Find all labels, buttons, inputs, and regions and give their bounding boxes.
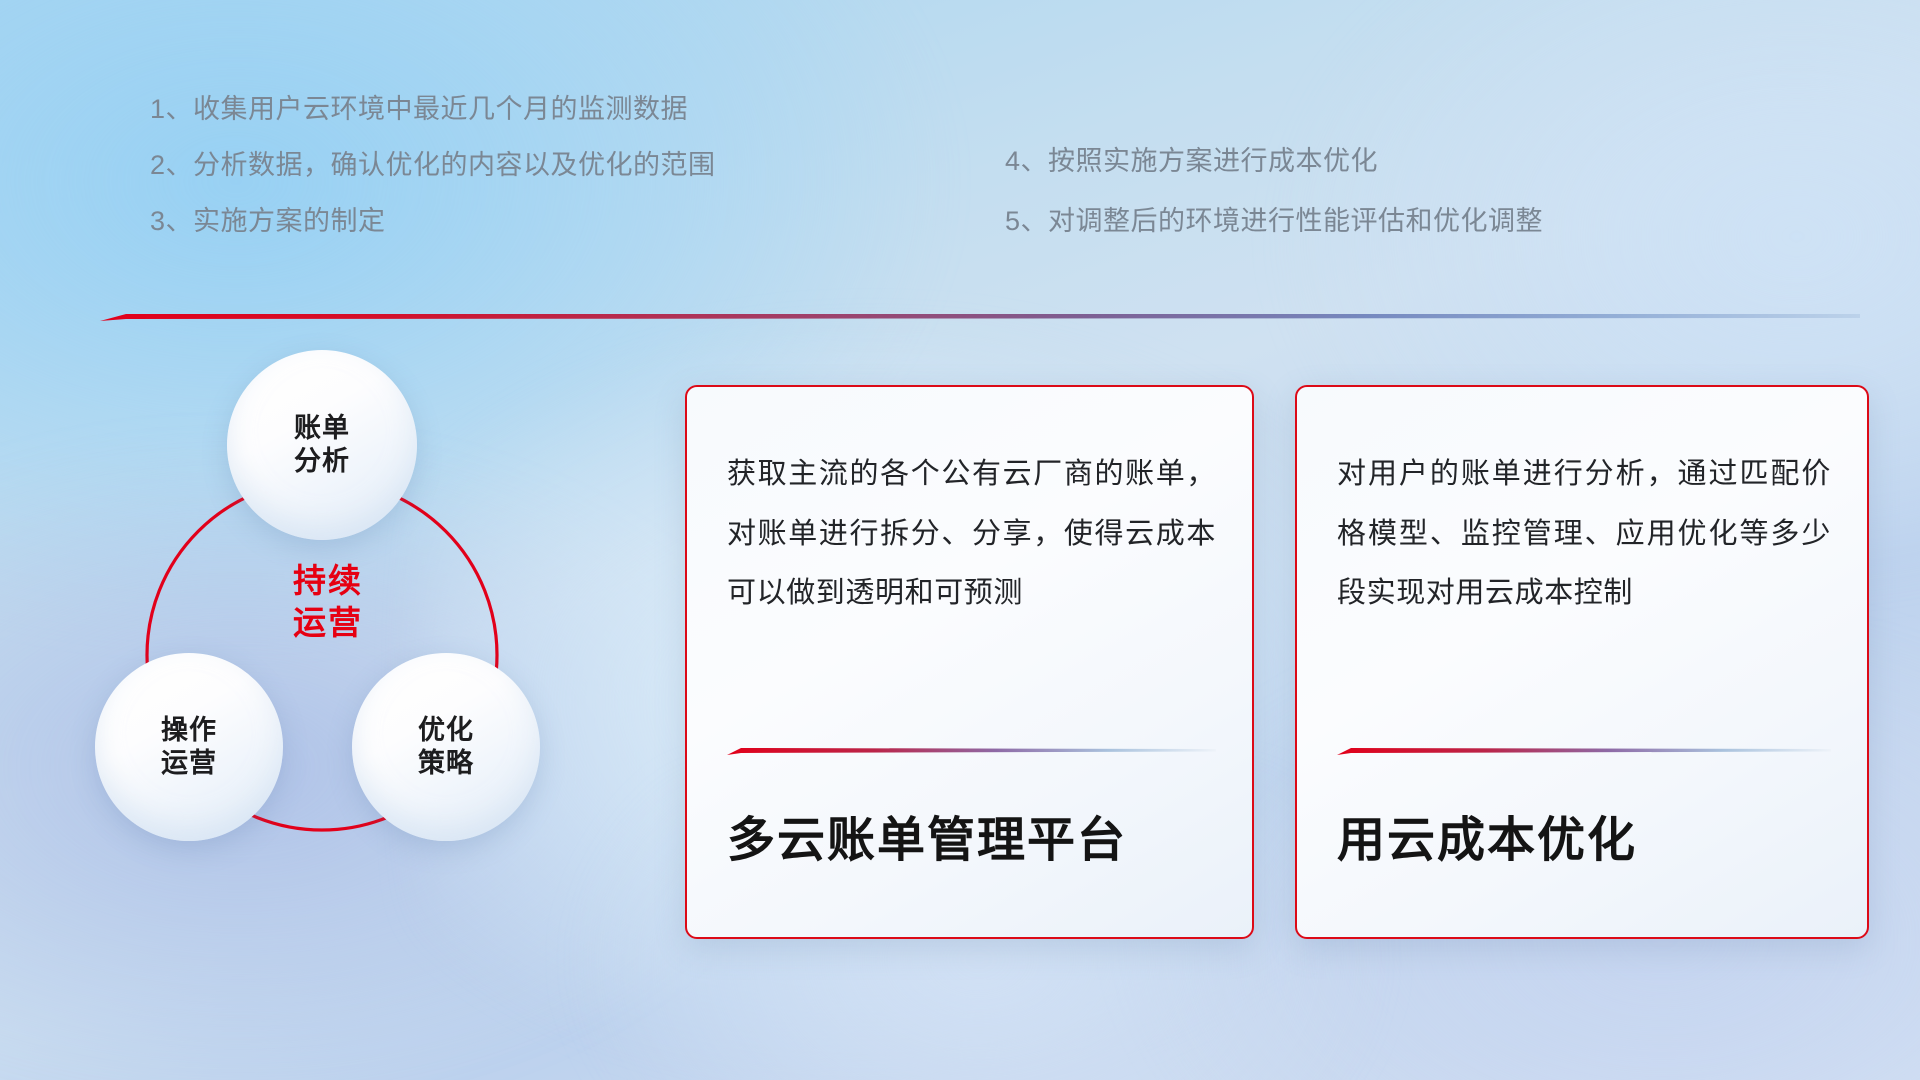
bubble-label-line-1: 账单 [294, 412, 350, 445]
bubble-label-line-2: 策略 [418, 747, 474, 780]
card-accent-rule-shape [1337, 747, 1831, 756]
bubble-label-line-1: 优化 [418, 714, 474, 747]
diagram-bubble-bill-analysis[interactable]: 账单 分析 [227, 350, 417, 540]
card-accent-rule-shape [727, 747, 1216, 756]
center-label-line-2: 运营 [238, 602, 418, 644]
card-accent-rule [1337, 747, 1831, 756]
bubble-label-optimization-strategy: 优化 策略 [418, 714, 474, 781]
divider-shape [100, 305, 1860, 327]
card-multi-cloud-bill-platform[interactable]: 获取主流的各个公有云厂商的账单，对账单进行拆分、分享，使得云成本可以做到透明和可… [685, 385, 1254, 939]
card-accent-rule [727, 747, 1216, 756]
bubble-label-line-2: 分析 [294, 445, 350, 478]
card-title: 多云账单管理平台 [727, 812, 1222, 870]
steps-column-left: 1、收集用户云环境中最近几个月的监测数据 2、分析数据，确认优化的内容以及优化的… [150, 96, 716, 264]
step-item-5: 5、对调整后的环境进行性能评估和优化调整 [1005, 208, 1543, 235]
continuous-operation-diagram: 账单 分析 操作 运营 优化 策略 持续 运营 [95, 355, 625, 965]
step-item-1: 1、收集用户云环境中最近几个月的监测数据 [150, 96, 716, 123]
diagram-bubble-operation[interactable]: 操作 运营 [95, 653, 283, 841]
diagram-center-label: 持续 运营 [238, 560, 418, 644]
step-item-2: 2、分析数据，确认优化的内容以及优化的范围 [150, 152, 716, 179]
card-body-text: 获取主流的各个公有云厂商的账单，对账单进行拆分、分享，使得云成本可以做到透明和可… [727, 445, 1216, 624]
slide-canvas: 1、收集用户云环境中最近几个月的监测数据 2、分析数据，确认优化的内容以及优化的… [0, 0, 1920, 1080]
bubble-label-bill-analysis: 账单 分析 [294, 412, 350, 479]
card-body-text: 对用户的账单进行分析，通过匹配价格模型、监控管理、应用优化等多少段实现对用云成本… [1337, 445, 1831, 624]
bubble-label-operation: 操作 运营 [161, 714, 217, 781]
card-cloud-cost-optimization[interactable]: 对用户的账单进行分析，通过匹配价格模型、监控管理、应用优化等多少段实现对用云成本… [1295, 385, 1869, 939]
section-divider [100, 305, 1860, 327]
bubble-label-line-2: 运营 [161, 747, 217, 780]
step-item-4: 4、按照实施方案进行成本优化 [1005, 148, 1543, 175]
diagram-bubble-optimization-strategy[interactable]: 优化 策略 [352, 653, 540, 841]
steps-column-right: 4、按照实施方案进行成本优化 5、对调整后的环境进行性能评估和优化调整 [1005, 148, 1543, 268]
center-label-line-1: 持续 [238, 560, 418, 602]
step-item-3: 3、实施方案的制定 [150, 208, 716, 235]
card-title: 用云成本优化 [1337, 812, 1837, 870]
bubble-label-line-1: 操作 [161, 714, 217, 747]
